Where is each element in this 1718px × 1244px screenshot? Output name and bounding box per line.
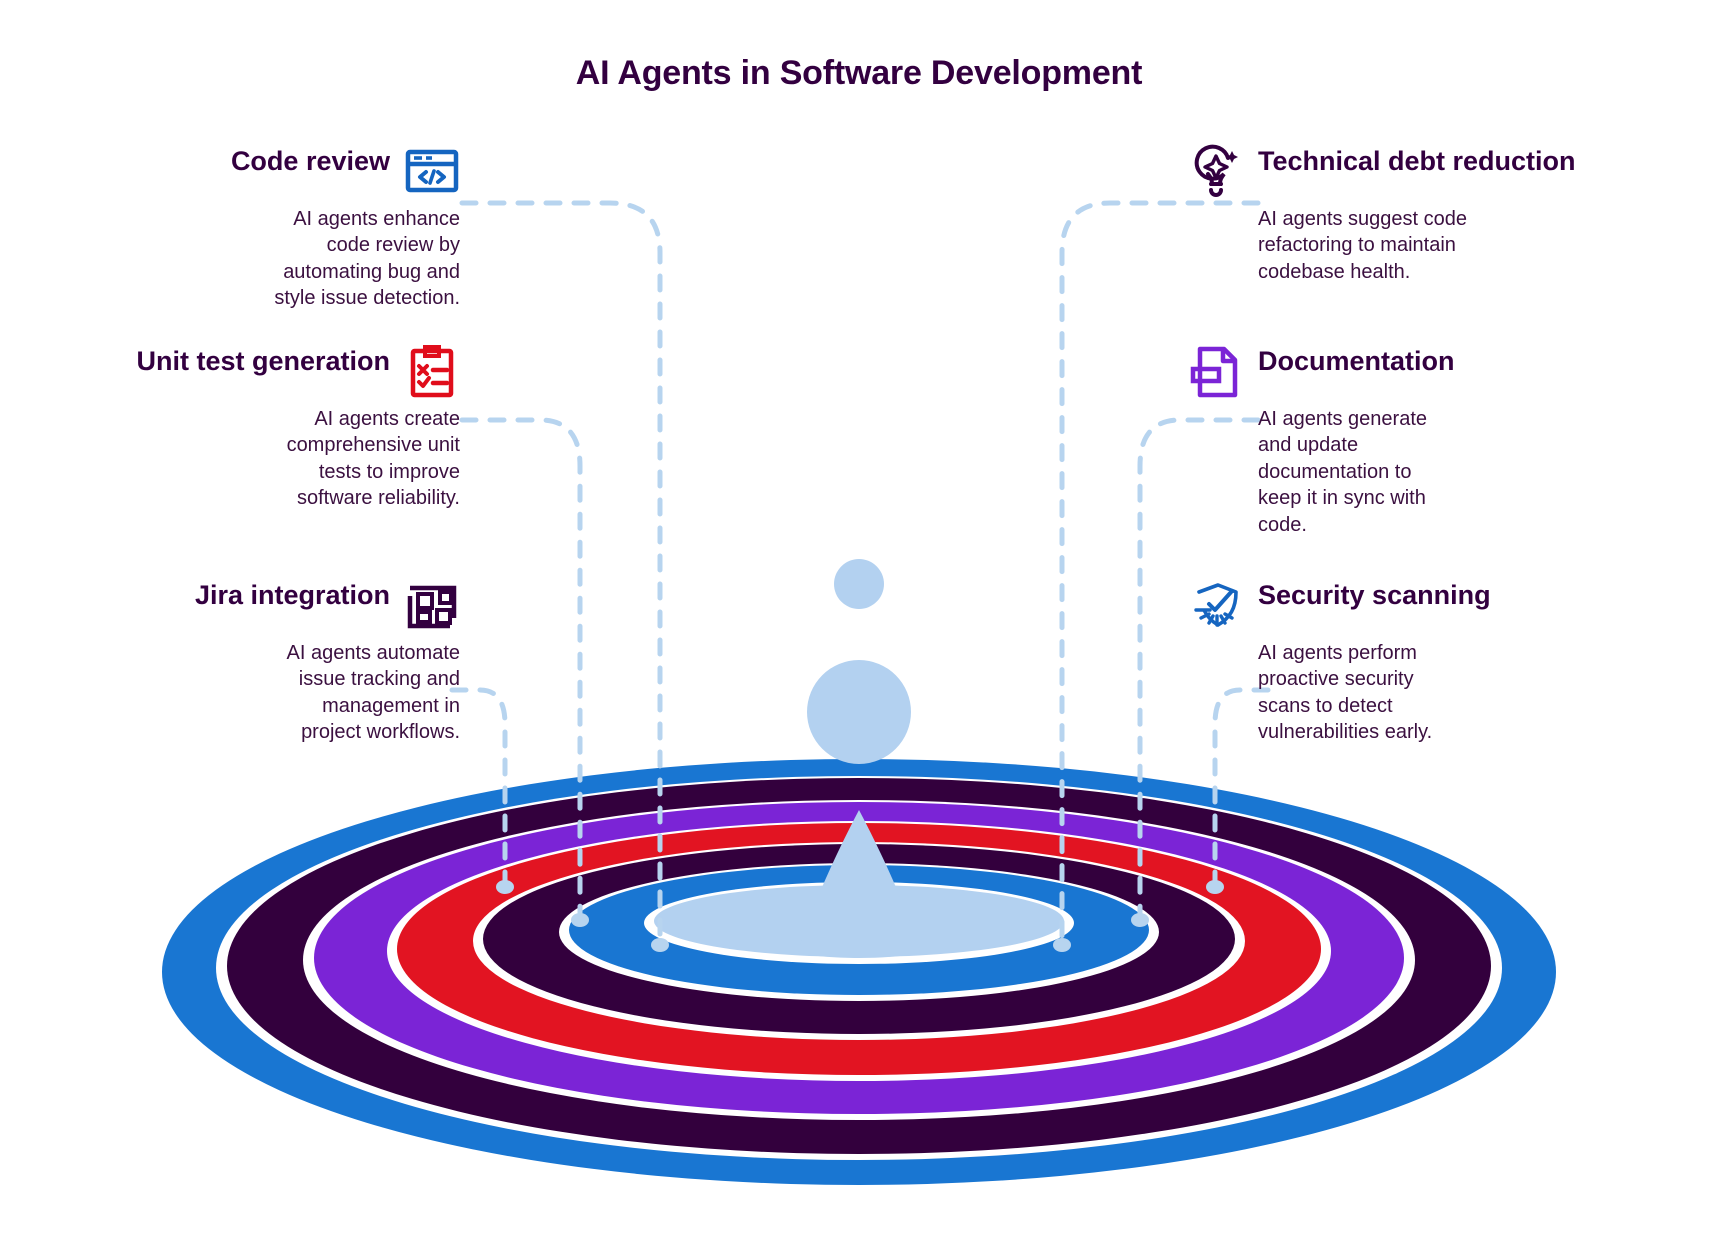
code-window-icon <box>404 144 460 200</box>
clipboard-checklist-icon <box>404 344 460 400</box>
feature-title: Code review <box>231 144 390 178</box>
ring-sep-5 <box>559 863 1159 1001</box>
center-pool <box>654 885 1064 957</box>
ring-sep-1 <box>216 776 1502 1160</box>
feature-description: AI agents perform proactive security sca… <box>1188 640 1608 746</box>
ring-dark-purple-2 <box>483 844 1235 1034</box>
connector-code-review <box>462 203 660 940</box>
endpoint-unit-test <box>571 913 589 927</box>
feature-header: Jira integration <box>60 578 460 634</box>
feature-unit-test-generation: Unit test generation AI agents create co… <box>60 344 460 512</box>
feature-header: Technical debt reduction <box>1188 144 1608 200</box>
endpoint-security <box>1206 880 1224 894</box>
feature-header: Unit test generation <box>60 344 460 400</box>
feature-title: Technical debt reduction <box>1258 144 1576 178</box>
grid-squares-icon <box>404 578 460 634</box>
feature-description: AI agents generate and update documentat… <box>1188 406 1608 538</box>
ring-sep-2 <box>303 800 1415 1120</box>
ring-violet <box>314 802 1404 1114</box>
endpoint-code-review <box>651 938 669 952</box>
ring-sep-3 <box>387 821 1331 1081</box>
feature-header: Security scanning <box>1188 578 1608 634</box>
page-title: AI Agents in Software Development <box>0 54 1718 93</box>
infographic-canvas: AI Agents in Software Development <box>0 0 1718 1244</box>
endpoint-documentation <box>1131 913 1149 927</box>
connector-endpoints <box>496 880 1224 952</box>
feature-documentation: Documentation AI agents generate and upd… <box>1188 344 1608 538</box>
endpoint-jira <box>496 880 514 894</box>
feature-description: AI agents create comprehensive unit test… <box>60 406 460 512</box>
ring-dark-purple-1 <box>227 778 1491 1154</box>
feature-header: Code review <box>60 144 460 200</box>
splash-column <box>798 810 920 958</box>
feature-title: Documentation <box>1258 344 1455 378</box>
ring-outer-blue <box>162 759 1556 1185</box>
connector-tech-debt <box>1062 203 1258 940</box>
droplet-large <box>807 660 911 764</box>
ring-sep-6 <box>644 882 1074 964</box>
feature-security-scanning: Security scanning AI agents perform proa… <box>1188 578 1608 746</box>
feature-description: AI agents enhance code review by automat… <box>60 206 460 312</box>
feature-title: Unit test generation <box>136 344 390 378</box>
ring-red <box>397 823 1321 1075</box>
shield-check-scan-icon <box>1188 578 1244 634</box>
connector-unit-test <box>462 420 580 915</box>
feature-description: AI agents suggest code refactoring to ma… <box>1188 206 1608 285</box>
document-icon <box>1188 344 1244 400</box>
droplet-small <box>834 559 884 609</box>
ring-inner-blue <box>569 865 1149 995</box>
feature-technical-debt-reduction: Technical debt reduction AI agents sugge… <box>1188 144 1608 285</box>
feature-jira-integration: Jira integration AI agents automate issu… <box>60 578 460 746</box>
lightbulb-sparkle-icon <box>1188 144 1244 200</box>
feature-code-review: Code review AI agents enhance code revie… <box>60 144 460 312</box>
feature-header: Documentation <box>1188 344 1608 400</box>
feature-description: AI agents automate issue tracking and ma… <box>60 640 460 746</box>
feature-title: Jira integration <box>195 578 390 612</box>
feature-title: Security scanning <box>1258 578 1491 612</box>
ring-sep-4 <box>473 842 1245 1040</box>
endpoint-tech-debt <box>1053 938 1071 952</box>
ripple-rings <box>162 759 1556 1185</box>
